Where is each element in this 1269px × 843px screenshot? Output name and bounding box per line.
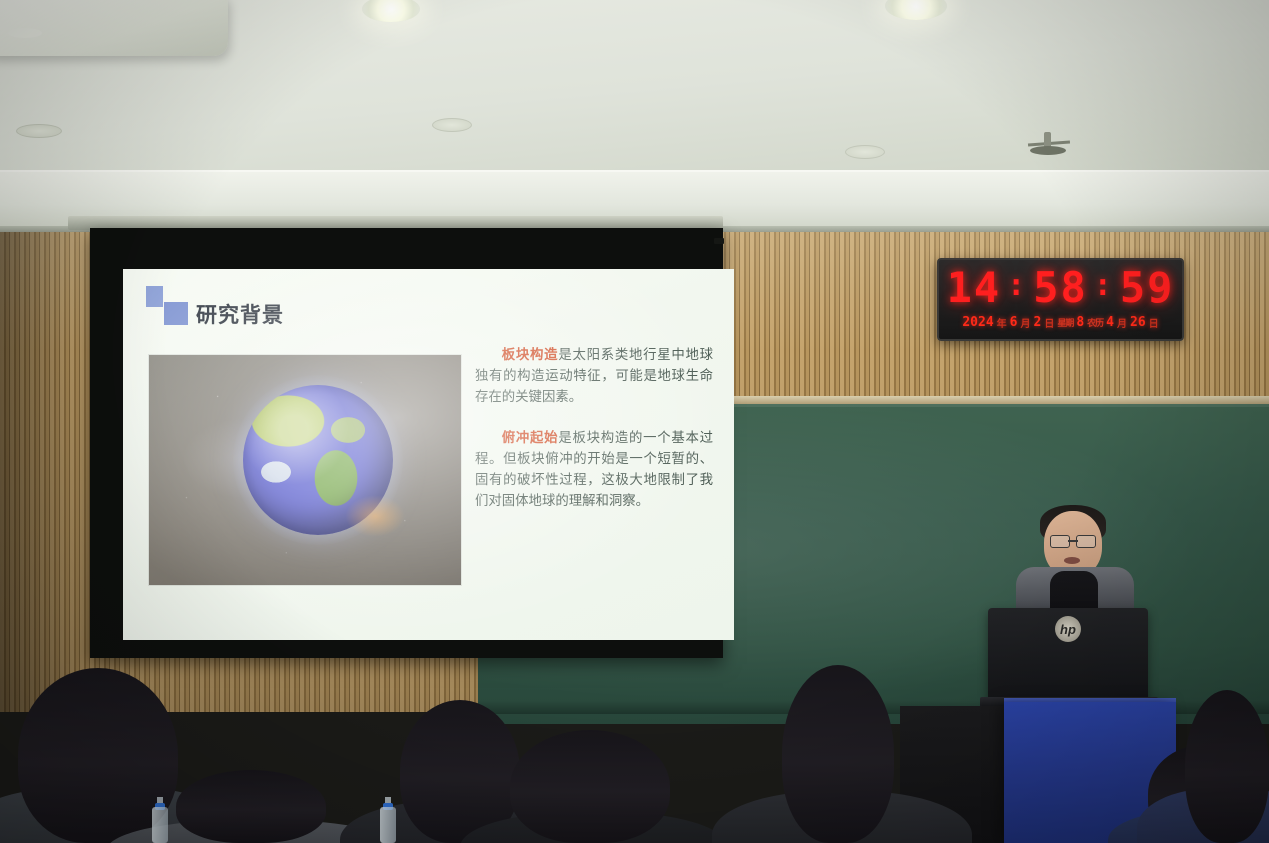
- slide-earth-image: [149, 355, 461, 585]
- title-square-large-icon: [164, 302, 188, 325]
- clock-hours: 14: [947, 263, 1002, 312]
- slide-title-row: 研究背景: [146, 286, 446, 330]
- ceiling: [0, 0, 1269, 232]
- ceiling-vent: [432, 118, 472, 132]
- ceiling-vent: [16, 124, 62, 138]
- clock-separator: :: [1094, 268, 1114, 303]
- clock-weekday-label: 星期: [1057, 316, 1073, 329]
- earth-terminator-flare: [345, 495, 405, 537]
- clock-minutes: 58: [1033, 263, 1088, 312]
- clock-weekday-value: 8: [1076, 315, 1084, 330]
- clock-year-unit: 年: [997, 315, 1007, 330]
- clock-day-unit: 日: [1044, 315, 1054, 330]
- clock-lunar-month: 4: [1106, 315, 1114, 330]
- clock-lunar-day: 26: [1130, 315, 1146, 330]
- led-wall-clock: 14 : 58 : 59 2024 年 6 月 2 日 星期 8 农历 4 月 …: [937, 258, 1184, 341]
- clock-month-unit: 月: [1020, 315, 1030, 330]
- slide-body-text: 板块构造是太阳系类地行星中地球独有的构造运动特征，可能是地球生命存在的关键因素。…: [475, 345, 713, 532]
- lecture-hall-photo: 研究背景 板块构造是太阳系类地行星中地球独有的构造运动特征，可能是地球生命存在的…: [0, 0, 1269, 843]
- keyword-subduction-initiation: 俯冲起始: [502, 431, 559, 446]
- slide-title: 研究背景: [196, 299, 284, 329]
- audience-member: [1185, 690, 1269, 843]
- slide-paragraph-2: 俯冲起始是板块构造的一个基本过程。但板块俯冲的开始是一个短暂的、固有的破坏性过程…: [475, 428, 713, 512]
- keyword-plate-tectonics: 板块构造: [502, 348, 559, 363]
- ceiling-downlight: [885, 0, 947, 20]
- water-bottle: [152, 797, 168, 843]
- projection-screen: 研究背景 板块构造是太阳系类地行星中地球独有的构造运动特征，可能是地球生命存在的…: [68, 222, 723, 646]
- title-square-small-icon: [146, 286, 163, 307]
- audience-member: [510, 730, 670, 843]
- clock-lunar-label: 农历: [1087, 316, 1103, 329]
- hp-logo-icon: hp: [1055, 616, 1081, 642]
- clock-year: 2024: [962, 315, 993, 330]
- audience-member: [782, 665, 894, 843]
- ceiling-projector-housing: [0, 0, 228, 56]
- clock-lunar-day-unit: 日: [1149, 315, 1159, 330]
- clock-seconds: 59: [1120, 263, 1175, 312]
- ceiling-downlight: [362, 0, 420, 22]
- clock-time-display: 14 : 58 : 59: [939, 263, 1182, 311]
- water-bottle: [380, 797, 396, 843]
- ceiling-vent: [845, 145, 885, 159]
- eyeglasses-icon: [1050, 535, 1096, 546]
- laptop: hp: [988, 608, 1148, 700]
- audience-member: [176, 770, 326, 843]
- clock-date-display: 2024 年 6 月 2 日 星期 8 农历 4 月 26 日: [939, 310, 1182, 334]
- clock-separator: :: [1007, 268, 1027, 303]
- ceiling-speaker: [1028, 132, 1070, 154]
- clock-month: 6: [1010, 315, 1018, 330]
- slide-paragraph-1: 板块构造是太阳系类地行星中地球独有的构造运动特征，可能是地球生命存在的关键因素。: [475, 345, 713, 408]
- presenter-mouth: [1064, 557, 1080, 564]
- presentation-slide: 研究背景 板块构造是太阳系类地行星中地球独有的构造运动特征，可能是地球生命存在的…: [123, 269, 734, 640]
- clock-lunar-month-unit: 月: [1117, 315, 1127, 330]
- screen-black-border: 研究背景 板块构造是太阳系类地行星中地球独有的构造运动特征，可能是地球生命存在的…: [90, 228, 723, 658]
- clock-day: 2: [1033, 315, 1041, 330]
